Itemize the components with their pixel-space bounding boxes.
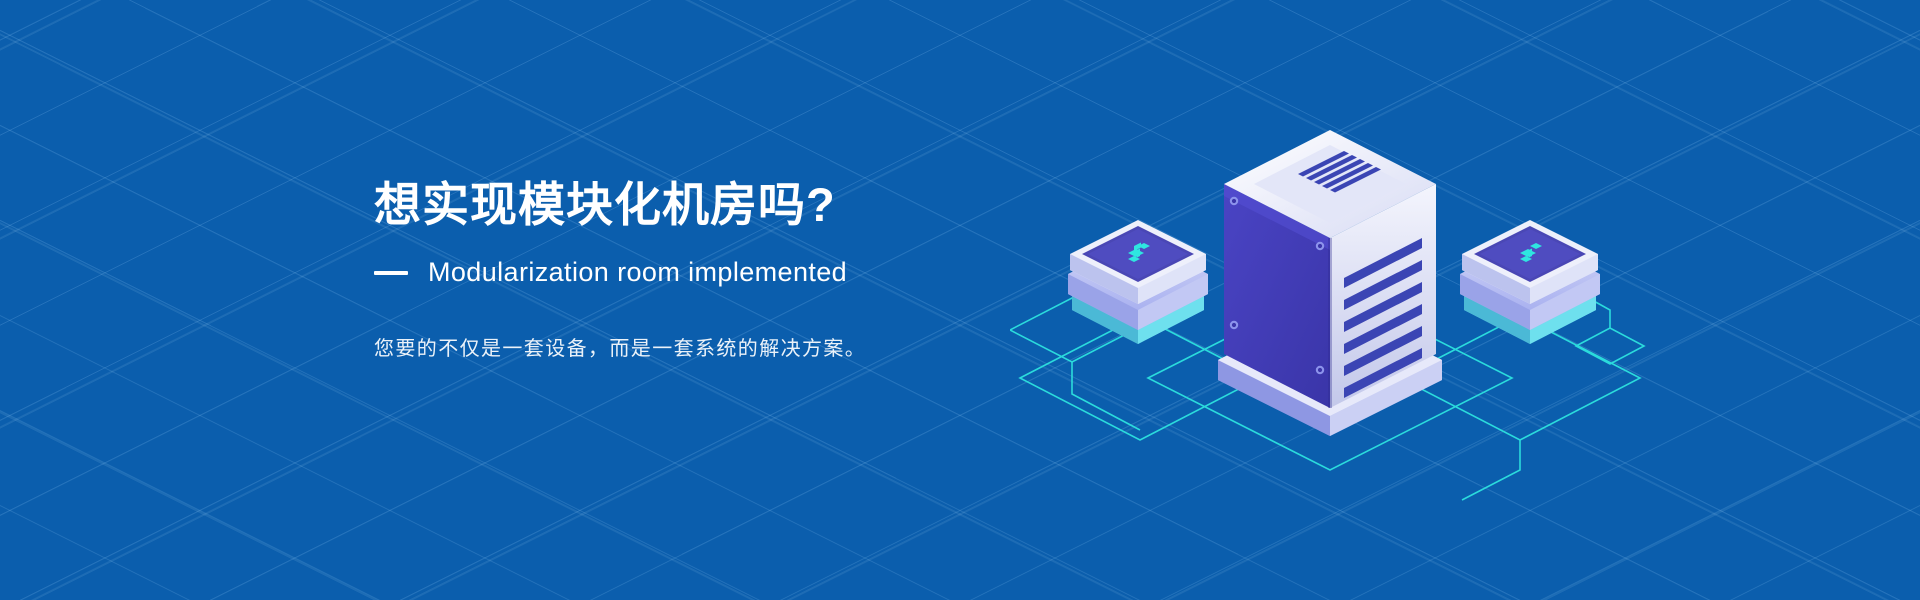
dash-accent-icon (374, 271, 408, 275)
chip-module-left (1068, 220, 1208, 344)
isometric-datacenter-illustration (1010, 78, 1650, 508)
hero-subtitle: Modularization room implemented (428, 257, 847, 288)
server-rack (1218, 130, 1442, 436)
chip-module-right (1460, 220, 1600, 344)
hero-banner: 想实现模块化机房吗? Modularization room implement… (0, 0, 1920, 600)
